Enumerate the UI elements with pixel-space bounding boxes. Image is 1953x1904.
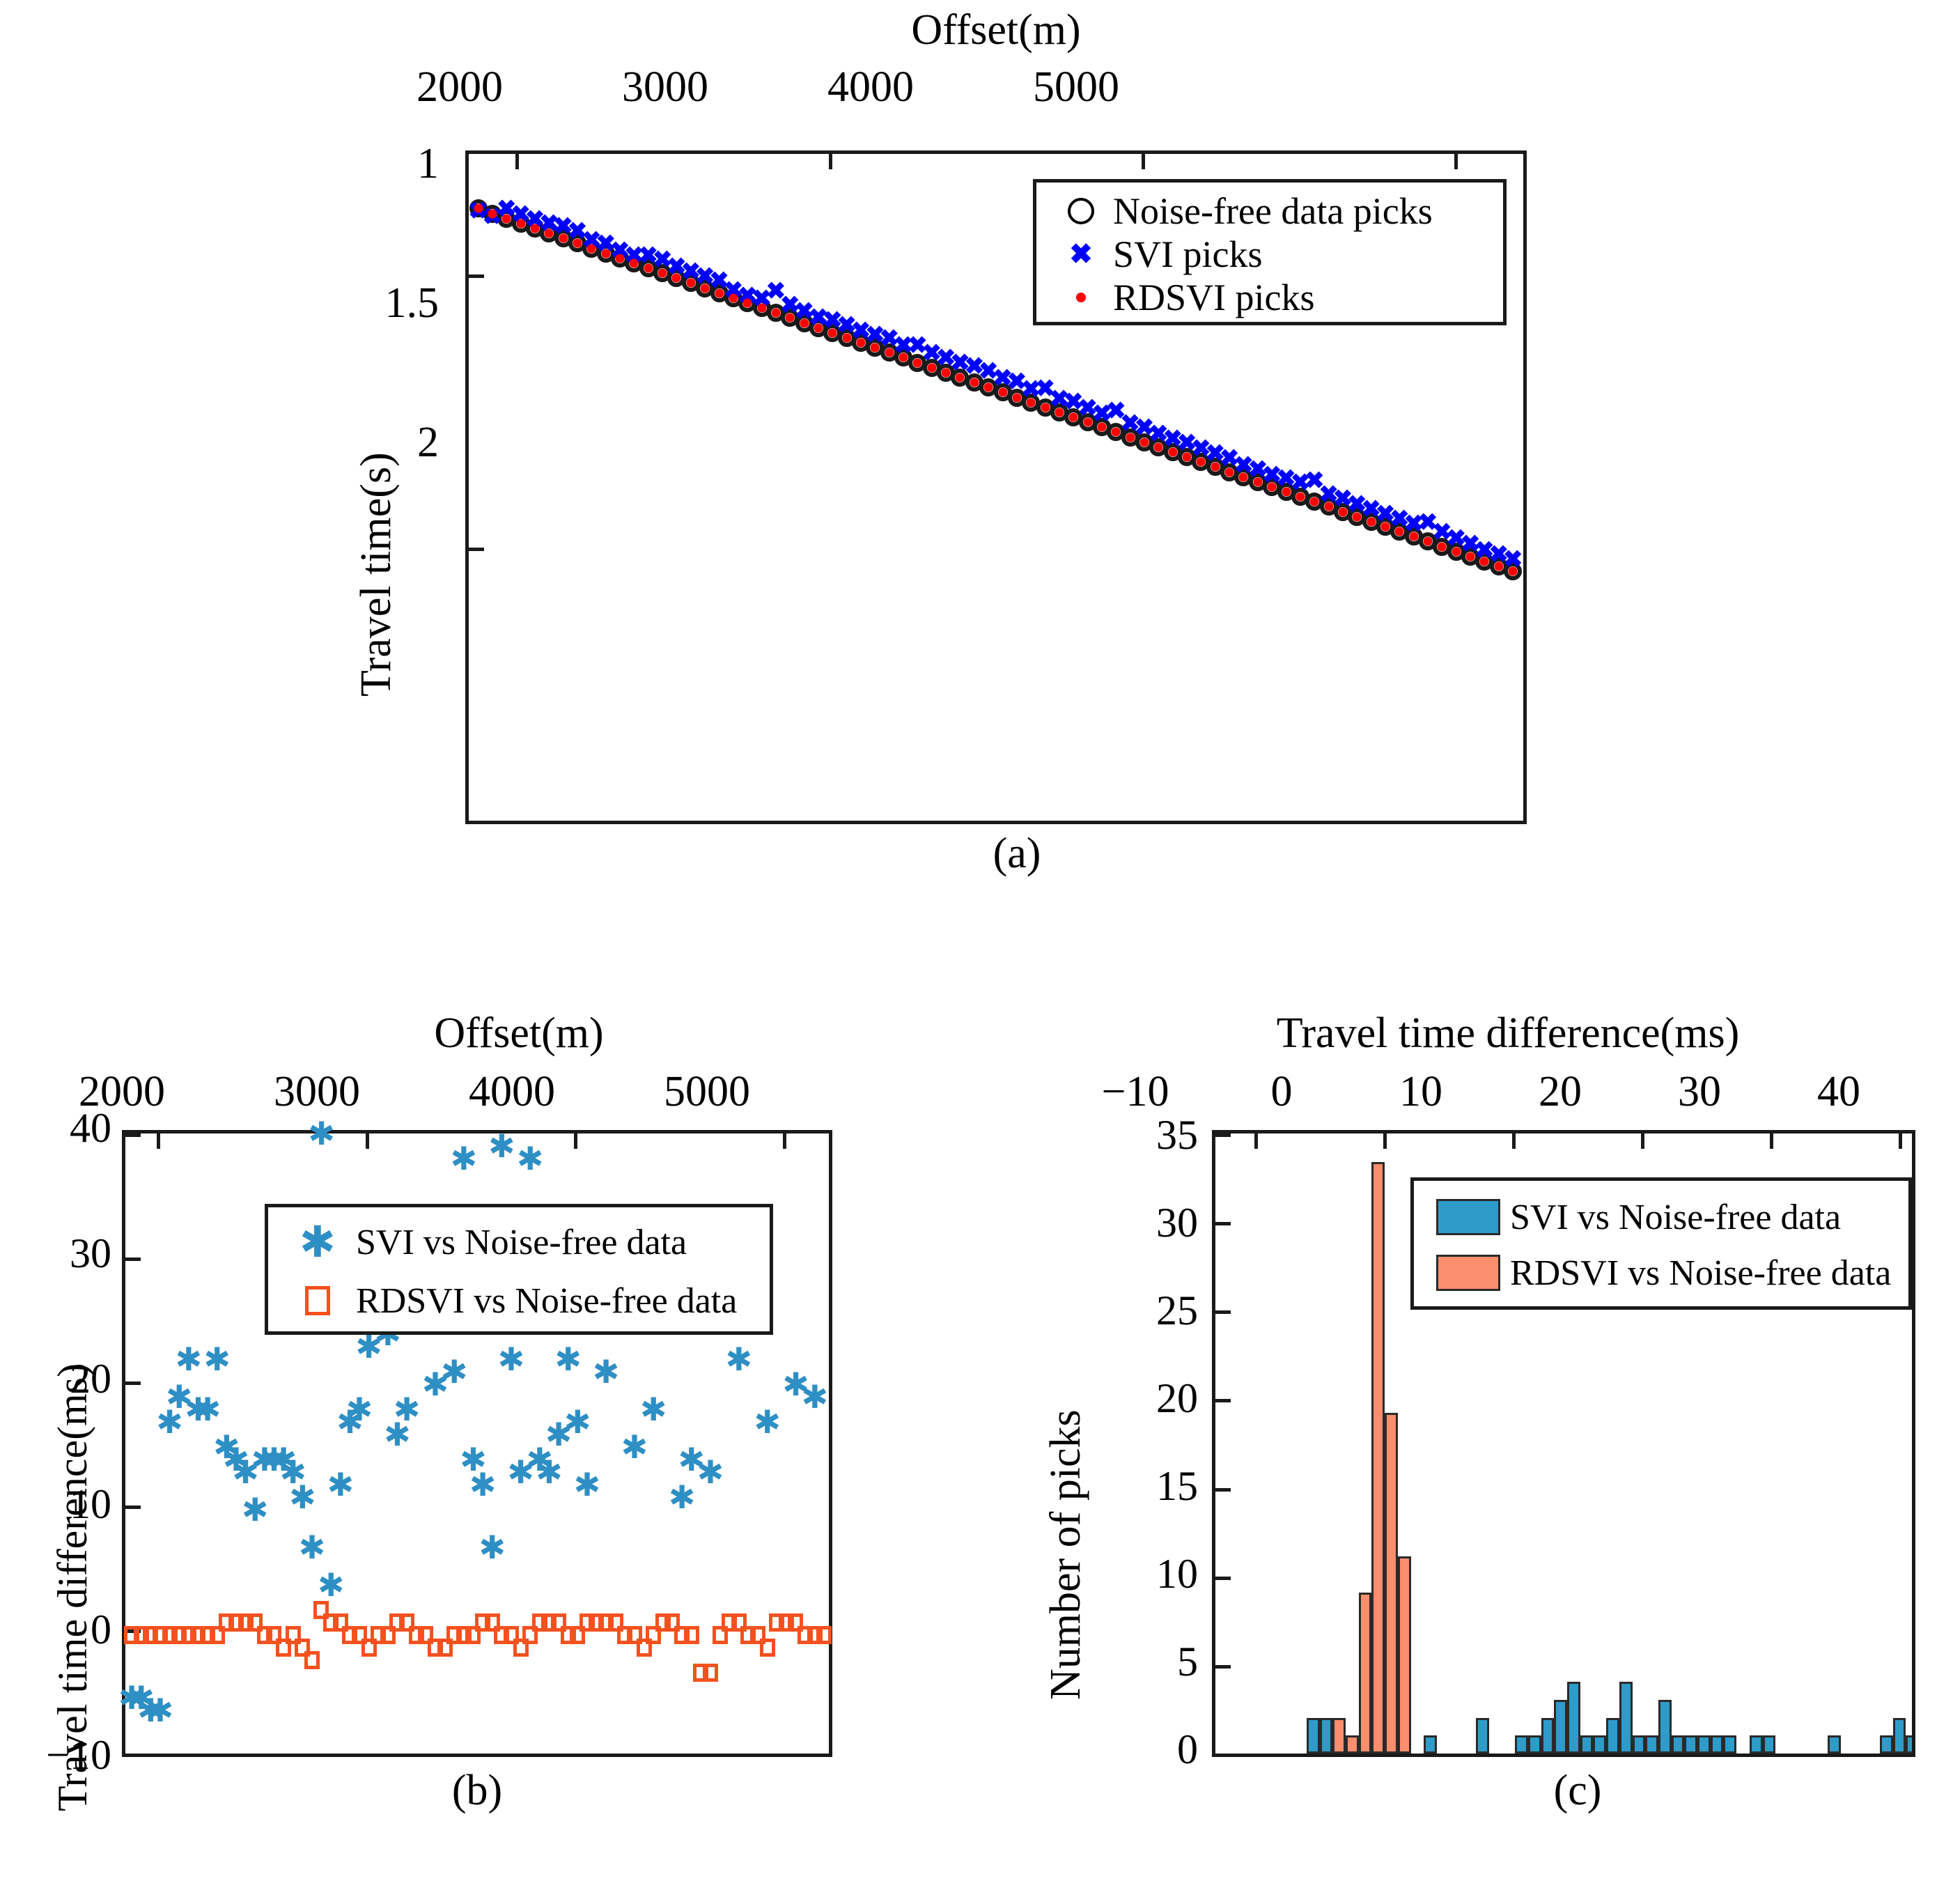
rdsvi-pick-marker	[686, 279, 695, 288]
rdsvi-diff-marker	[313, 1601, 329, 1619]
svi-pick-marker: ✖	[1149, 422, 1169, 446]
rdsvi-pick-marker	[1112, 428, 1121, 437]
rdsvi-diff-marker	[608, 1613, 623, 1632]
rdsvi-diff-marker	[409, 1626, 424, 1644]
rdsvi-pick-marker	[1154, 442, 1163, 451]
rdsvi-pick-marker	[1424, 537, 1433, 546]
rdsvi-diff-marker	[722, 1613, 737, 1632]
svi-pick-marker: ✖	[1120, 412, 1140, 435]
svi-diff-marker: ✱	[460, 1444, 487, 1476]
noise-free-pick-marker	[1192, 453, 1210, 471]
rdsvi-pick-marker	[1438, 542, 1447, 551]
panel-a-ytick-1p5: 1.5	[265, 279, 439, 328]
svi-diff-marker: ✱	[289, 1481, 316, 1513]
svi-diff-marker: ✱	[185, 1393, 212, 1425]
rdsvi-pick-marker	[1295, 493, 1305, 502]
noise-free-pick-marker	[582, 240, 600, 258]
rdsvi-pick-marker	[942, 368, 951, 377]
rdsvi-pick-marker	[1480, 557, 1489, 566]
svi-diff-marker: ✱	[194, 1393, 221, 1425]
svi-diff-marker: ✱	[213, 1431, 240, 1463]
rdsvi-diff-marker	[551, 1613, 566, 1632]
legend-row-noise-free: Noise-free data picks	[1049, 189, 1503, 233]
axis-tick-left	[469, 821, 484, 824]
noise-free-pick-marker	[1164, 443, 1182, 461]
noise-free-pick-marker	[1249, 473, 1267, 491]
svi-diff-marker: ✱	[308, 1117, 335, 1150]
rdsvi-diff-marker	[333, 1613, 348, 1632]
svi-diff-marker: ✱	[574, 1469, 601, 1501]
noise-free-pick-marker	[1390, 523, 1408, 541]
histogram-bar	[1606, 1718, 1619, 1754]
panel-c-ytick-0: 0	[1087, 1726, 1198, 1774]
noise-free-pick-marker	[1149, 438, 1167, 456]
svi-pick-marker: ✖	[1403, 512, 1424, 536]
svi-diff-marker: ✱	[242, 1494, 269, 1526]
svi-diff-marker: ✱	[299, 1531, 326, 1563]
noise-free-pick-marker	[625, 254, 643, 272]
svi-diff-marker: ✱	[640, 1393, 667, 1425]
rdsvi-diff-marker	[485, 1613, 500, 1632]
rdsvi-pick-marker	[502, 214, 511, 223]
rdsvi-diff-marker	[418, 1626, 433, 1644]
svi-diff-marker: ✱	[469, 1469, 497, 1501]
noise-free-pick-marker	[1036, 398, 1055, 417]
svi-pick-marker: ✖	[568, 219, 588, 243]
svi-pick-marker: ✖	[1376, 502, 1396, 526]
rdsvi-pick-marker	[899, 353, 908, 362]
rdsvi-diff-marker	[760, 1639, 775, 1657]
svi-diff-marker: ✱	[232, 1456, 259, 1488]
rdsvi-pick-marker	[616, 254, 625, 263]
svi-diff-marker: ✱	[166, 1381, 193, 1413]
rdsvi-diff-marker	[352, 1626, 367, 1644]
noise-free-pick-marker	[1050, 403, 1068, 421]
panel-b: Offset(m) 2000 3000 4000 5000 Travel tim…	[0, 1003, 989, 1904]
panel-c-ytick-5: 5	[1087, 1638, 1198, 1686]
rdsvi-diff-marker	[579, 1613, 595, 1632]
rdsvi-pick-marker	[1466, 552, 1475, 561]
axis-tick-left	[125, 1754, 141, 1757]
rdsvi-diff-marker	[693, 1664, 708, 1682]
histogram-bar	[1371, 1162, 1385, 1754]
axis-tick-left	[125, 1506, 141, 1509]
rdsvi-diff-marker	[769, 1613, 784, 1632]
rdsvi-pick-marker	[1225, 467, 1234, 477]
rdsvi-pick-marker	[771, 309, 780, 318]
noise-free-pick-marker	[724, 289, 742, 307]
noise-free-pick-marker	[1220, 463, 1238, 481]
svi-diff-marker: ✱	[441, 1356, 468, 1388]
histogram-bar	[1906, 1735, 1915, 1754]
histogram-bar	[1515, 1735, 1528, 1754]
axis-tick-top	[1254, 1133, 1258, 1149]
panel-c-ylabel: Number of picks	[1041, 1409, 1091, 1700]
noise-free-pick-marker	[1008, 389, 1026, 407]
panel-c-xtick-40: 40	[1759, 1067, 1919, 1117]
rdsvi-pick-marker	[1041, 403, 1050, 412]
panel-b-plot-area[interactable]: ✱✱✱✱✱✱✱✱✱✱✱✱✱✱✱✱✱✱✱✱✱✱✱✱✱✱✱✱✱✱✱✱✱✱✱✱✱✱✱✱…	[122, 1130, 832, 1757]
histogram-bar	[1711, 1735, 1724, 1754]
axis-tick-top	[1770, 1133, 1773, 1149]
rdsvi-diff-marker	[731, 1613, 747, 1632]
legend-label-svi-hist: SVI vs Noise-free data	[1510, 1197, 1841, 1238]
rdsvi-pick-marker	[857, 339, 866, 348]
rdsvi-diff-marker	[684, 1626, 699, 1644]
panel-c-xtick-30: 30	[1619, 1067, 1780, 1117]
noise-free-pick-marker	[1433, 538, 1451, 556]
svi-pick-marker: ✖	[1305, 469, 1325, 493]
rdsvi-pick-marker	[530, 224, 539, 233]
svi-pick-marker: ✖	[794, 300, 814, 323]
svi-pick-marker: ✖	[525, 208, 545, 231]
noise-free-pick-marker	[1178, 448, 1196, 466]
svi-pick-marker: ✖	[1007, 370, 1027, 394]
histogram-bar	[1763, 1735, 1776, 1754]
svi-pick-marker: ✖	[879, 327, 899, 350]
rdsvi-pick-marker	[573, 239, 582, 248]
rdsvi-pick-marker	[757, 304, 766, 313]
svi-diff-marker: ✱	[554, 1343, 582, 1375]
axis-tick-top	[1641, 1133, 1644, 1149]
axis-tick-top	[1899, 1133, 1902, 1149]
svi-diff-marker: ✱	[384, 1418, 411, 1450]
rdsvi-diff-marker	[750, 1626, 765, 1644]
rdsvi-pick-marker	[1253, 477, 1262, 486]
svi-pick-marker: ✖	[610, 239, 630, 263]
rdsvi-diff-marker	[380, 1626, 396, 1644]
rdsvi-pick-marker	[1380, 523, 1390, 532]
histogram-bar	[1359, 1593, 1372, 1754]
axis-tick-top	[366, 1133, 369, 1149]
panel-c-ytick-10: 10	[1087, 1550, 1198, 1598]
noise-free-pick-marker	[1362, 513, 1380, 531]
rdsvi-pick-marker	[885, 348, 894, 357]
svi-pick-marker: ✖	[908, 334, 928, 357]
noise-free-pick-marker	[880, 343, 898, 362]
noise-free-pick-marker	[597, 245, 615, 263]
svi-pick-marker: ✖	[1092, 402, 1112, 426]
rdsvi-pick-marker	[1211, 463, 1220, 472]
noise-free-pick-marker	[753, 299, 771, 317]
panel-b-ytick-20: 20	[0, 1355, 111, 1403]
panel-a-xtick-4000: 4000	[766, 63, 975, 112]
noise-free-pick-marker	[639, 259, 658, 277]
noise-free-pick-marker	[1022, 394, 1040, 412]
noise-free-pick-marker	[979, 378, 997, 396]
svi-pick-marker: ✖	[511, 203, 531, 226]
legend-label-rdsvi: RDSVI picks	[1113, 276, 1315, 319]
noise-free-pick-marker	[908, 354, 926, 372]
svi-diff-marker: ✱	[176, 1343, 203, 1375]
svi-diff-marker: ✱	[422, 1368, 449, 1400]
noise-free-pick-marker	[611, 249, 629, 268]
svi-pick-marker: ✖	[1206, 442, 1226, 465]
cross-icon: ✖	[1049, 240, 1113, 268]
panel-a-plot-area[interactable]: ✖✖✖✖✖✖✖✖✖✖✖✖✖✖✖✖✖✖✖✖✖✖✖✖✖✖✖✖✖✖✖✖✖✖✖✖✖✖✖✖…	[465, 150, 1527, 824]
legend-label-rdsvi-diff: RDSVI vs Noise-free data	[356, 1280, 737, 1322]
noise-free-pick-marker	[866, 339, 884, 357]
legend-label-noise-free: Noise-free data picks	[1113, 189, 1433, 233]
svi-diff-marker: ✱	[754, 1406, 781, 1438]
noise-free-pick-marker	[483, 205, 501, 223]
svi-diff-marker: ✱	[270, 1444, 297, 1476]
noise-free-pick-marker	[1461, 548, 1479, 566]
svi-pick-marker: ✖	[1475, 539, 1495, 562]
noise-free-pick-marker	[1320, 497, 1338, 516]
histogram-bar	[1593, 1735, 1606, 1754]
histogram-bar	[1893, 1718, 1906, 1754]
noise-free-pick-marker	[526, 219, 544, 238]
histogram-bar	[1645, 1735, 1658, 1754]
noise-free-pick-marker	[1419, 532, 1437, 550]
axis-tick-top	[1454, 154, 1458, 169]
noise-free-pick-marker	[667, 269, 685, 287]
asterisk-icon: ✱	[279, 1221, 356, 1264]
noise-free-pick-marker	[710, 284, 729, 302]
panel-a-xtick-5000: 5000	[972, 63, 1181, 112]
rdsvi-pick-marker	[1097, 423, 1106, 432]
svi-pick-marker: ✖	[653, 248, 673, 272]
noise-free-pick-marker	[1234, 468, 1252, 486]
rdsvi-diff-marker	[465, 1626, 481, 1644]
svi-pick-marker: ✖	[1077, 396, 1098, 420]
rdsvi-diff-marker	[286, 1626, 301, 1644]
svi-pick-marker: ✖	[752, 287, 772, 311]
noise-free-pick-marker	[540, 224, 558, 242]
rdsvi-diff-marker	[304, 1651, 320, 1669]
noise-free-pick-marker	[1135, 433, 1153, 451]
svi-color-swatch	[1426, 1199, 1510, 1235]
rdsvi-pick-marker	[927, 363, 936, 372]
panel-b-xlabel: Offset(m)	[150, 1009, 888, 1058]
histogram-bar	[1880, 1735, 1893, 1754]
rdsvi-pick-marker	[1353, 512, 1362, 521]
noise-free-pick-marker	[823, 324, 841, 342]
panel-a-xlabel: Offset(m)	[465, 6, 1527, 55]
rdsvi-diff-marker	[134, 1626, 149, 1644]
panel-a-ytick-1: 1	[265, 139, 439, 189]
noise-free-pick-marker	[1121, 428, 1139, 447]
rdsvi-diff-marker	[210, 1626, 225, 1644]
rdsvi-diff-marker	[740, 1626, 756, 1644]
svi-pick-marker: ✖	[1446, 527, 1466, 550]
svi-pick-marker: ✖	[483, 205, 503, 229]
axis-tick-left	[1215, 1577, 1231, 1580]
svi-pick-marker: ✖	[681, 260, 701, 284]
rdsvi-diff-marker	[541, 1613, 557, 1632]
rdsvi-pick-marker	[998, 388, 1007, 397]
noise-free-pick-marker	[1376, 518, 1394, 536]
axis-tick-top	[515, 154, 519, 169]
noise-free-pick-marker	[852, 334, 870, 352]
rdsvi-pick-marker	[559, 234, 568, 243]
rdsvi-diff-marker	[247, 1613, 263, 1632]
rdsvi-diff-marker	[504, 1626, 519, 1644]
rdsvi-pick-marker	[984, 383, 993, 392]
svi-pick-marker: ✖	[1064, 390, 1084, 414]
rdsvi-pick-marker	[1282, 488, 1291, 497]
rdsvi-diff-marker	[276, 1639, 291, 1657]
rdsvi-pick-marker	[488, 209, 497, 218]
rdsvi-diff-marker	[342, 1626, 357, 1644]
svi-diff-marker: ✱	[507, 1456, 534, 1488]
svi-pick-marker: ✖	[894, 334, 914, 357]
noise-free-pick-marker	[1263, 478, 1281, 496]
panel-b-xtick-5000: 5000	[613, 1067, 801, 1117]
rdsvi-diff-marker	[646, 1626, 661, 1644]
svi-diff-marker: ✱	[536, 1456, 563, 1488]
svi-pick-marker: ✖	[865, 323, 885, 347]
rdsvi-diff-marker	[399, 1613, 414, 1632]
svi-diff-marker: ✱	[279, 1456, 306, 1488]
svi-pick-marker: ✖	[1262, 463, 1282, 487]
svi-pick-marker: ✖	[936, 346, 956, 370]
rdsvi-diff-marker	[266, 1626, 281, 1644]
legend-label-rdsvi-hist: RDSVI vs Noise-free data	[1510, 1253, 1891, 1294]
noise-free-pick-marker	[1305, 493, 1323, 511]
panel-c-ytick-30: 30	[1087, 1199, 1198, 1247]
rdsvi-diff-marker	[456, 1626, 472, 1644]
rdsvi-pick-marker	[1338, 507, 1347, 516]
panel-c: Travel time difference(ms) −10 0 10 20 3…	[989, 1003, 1953, 1904]
histogram-bar	[1567, 1682, 1580, 1754]
svi-pick-marker: ✖	[837, 314, 857, 337]
panel-c-plot-area[interactable]: SVI vs Noise-free data RDSVI vs Noise-fr…	[1212, 1130, 1915, 1757]
rdsvi-pick-marker	[1197, 458, 1206, 467]
rdsvi-pick-marker	[545, 229, 554, 238]
svi-pick-marker: ✖	[709, 269, 729, 293]
svi-diff-marker: ✱	[260, 1444, 288, 1476]
svi-diff-marker: ✱	[801, 1381, 828, 1413]
axis-tick-left	[1215, 1665, 1231, 1669]
svi-diff-marker: ✱	[669, 1481, 696, 1513]
noise-free-pick-marker	[767, 304, 785, 322]
rdsvi-pick-marker	[1012, 393, 1021, 402]
svi-pick-marker: ✖	[993, 366, 1013, 390]
panel-c-ytick-20: 20	[1087, 1375, 1198, 1423]
noise-free-pick-marker	[1107, 423, 1125, 441]
svi-pick-marker: ✖	[553, 215, 573, 238]
svi-pick-marker: ✖	[1461, 532, 1481, 556]
svi-pick-marker: ✖	[1276, 467, 1296, 490]
svi-pick-marker: ✖	[922, 341, 942, 365]
rdsvi-diff-marker	[190, 1626, 205, 1644]
axis-tick-left	[1215, 1488, 1231, 1492]
svi-pick-marker: ✖	[497, 197, 517, 221]
rdsvi-diff-marker	[428, 1639, 443, 1657]
rdsvi-color-swatch	[1426, 1255, 1510, 1291]
svi-pick-marker: ✖	[724, 279, 744, 302]
svi-pick-marker: ✖	[1234, 454, 1254, 477]
rdsvi-pick-marker	[1310, 497, 1319, 506]
svi-pick-marker: ✖	[1035, 377, 1055, 401]
rdsvi-diff-marker	[779, 1613, 794, 1632]
svi-diff-marker: ✱	[346, 1393, 373, 1425]
svi-pick-marker: ✖	[1390, 507, 1410, 531]
rdsvi-pick-marker	[1268, 482, 1277, 491]
rdsvi-pick-marker	[871, 343, 880, 353]
histogram-bar	[1828, 1735, 1841, 1754]
svi-diff-marker: ✱	[451, 1143, 478, 1175]
rdsvi-pick-marker	[1055, 408, 1064, 417]
svi-pick-marker: ✖	[851, 319, 871, 343]
panel-a-legend: Noise-free data picks ✖ SVI picks RDSVI …	[1033, 179, 1507, 325]
rdsvi-pick-marker	[1140, 438, 1149, 447]
svi-pick-marker: ✖	[639, 244, 659, 268]
noise-free-pick-marker	[1348, 508, 1366, 526]
rdsvi-diff-marker	[475, 1613, 490, 1632]
histogram-bar	[1385, 1413, 1398, 1754]
panel-b-ytick-10: 10	[0, 1480, 111, 1528]
noise-free-pick-marker	[568, 234, 586, 252]
svi-pick-marker: ✖	[624, 244, 644, 268]
legend-row-rdsvi-hist: RDSVI vs Noise-free data	[1426, 1245, 1908, 1301]
axis-tick-left	[1215, 1133, 1231, 1137]
histogram-bar	[1619, 1682, 1633, 1754]
svi-pick-marker: ✖	[1318, 483, 1339, 506]
svi-pick-marker: ✖	[1248, 458, 1268, 481]
rdsvi-diff-marker	[655, 1613, 671, 1632]
panel-c-legend: SVI vs Noise-free data RDSVI vs Noise-fr…	[1410, 1177, 1912, 1310]
noise-free-pick-marker	[554, 229, 573, 247]
panel-c-xtick-20: 20	[1480, 1067, 1640, 1117]
square-open-icon	[279, 1286, 356, 1315]
histogram-bar	[1672, 1735, 1685, 1754]
svi-pick-marker: ✖	[965, 355, 985, 378]
rdsvi-diff-marker	[446, 1626, 462, 1644]
svi-pick-marker: ✖	[667, 255, 687, 279]
svi-diff-marker: ✱	[593, 1356, 620, 1388]
rdsvi-pick-marker	[913, 358, 922, 367]
noise-free-pick-marker	[1291, 488, 1309, 506]
rdsvi-diff-marker	[522, 1626, 538, 1644]
rdsvi-diff-marker	[674, 1626, 690, 1644]
noise-free-pick-marker	[1206, 458, 1224, 476]
rdsvi-pick-marker	[587, 244, 596, 253]
rdsvi-diff-marker	[153, 1626, 168, 1644]
svi-diff-marker: ✱	[118, 1682, 146, 1714]
rdsvi-diff-marker	[238, 1613, 254, 1632]
rdsvi-pick-marker	[1509, 567, 1518, 576]
axis-tick-left	[1215, 1310, 1231, 1314]
rdsvi-pick-marker	[1069, 413, 1078, 422]
panel-b-ytick-40: 40	[0, 1104, 111, 1152]
rdsvi-diff-marker	[589, 1613, 604, 1632]
histogram-bar	[1580, 1735, 1594, 1754]
rdsvi-pick-marker	[828, 328, 837, 337]
svi-pick-marker: ✖	[809, 306, 829, 330]
svi-diff-marker: ✱	[223, 1444, 250, 1476]
noise-free-pick-marker	[1064, 408, 1082, 426]
rdsvi-diff-marker	[713, 1626, 728, 1644]
rdsvi-diff-marker	[494, 1626, 509, 1644]
rdsvi-diff-marker	[797, 1626, 813, 1644]
panel-a-ylabel: Travel time(s)	[352, 452, 401, 697]
rdsvi-diff-marker	[637, 1639, 652, 1657]
svi-diff-marker: ✱	[394, 1393, 421, 1425]
svi-pick-marker: ✖	[823, 309, 843, 332]
rdsvi-pick-marker	[1083, 418, 1092, 427]
axis-tick-top	[1383, 1133, 1387, 1149]
rdsvi-diff-marker	[257, 1626, 272, 1644]
histogram-bar	[1750, 1735, 1763, 1754]
rdsvi-diff-marker	[788, 1613, 803, 1632]
panel-c-xlabel: Travel time difference(ms)	[1094, 1009, 1922, 1058]
rdsvi-diff-marker	[371, 1626, 386, 1644]
panel-c-xtick-neg10: −10	[1055, 1067, 1215, 1117]
svi-pick-marker: ✖	[1333, 487, 1353, 511]
